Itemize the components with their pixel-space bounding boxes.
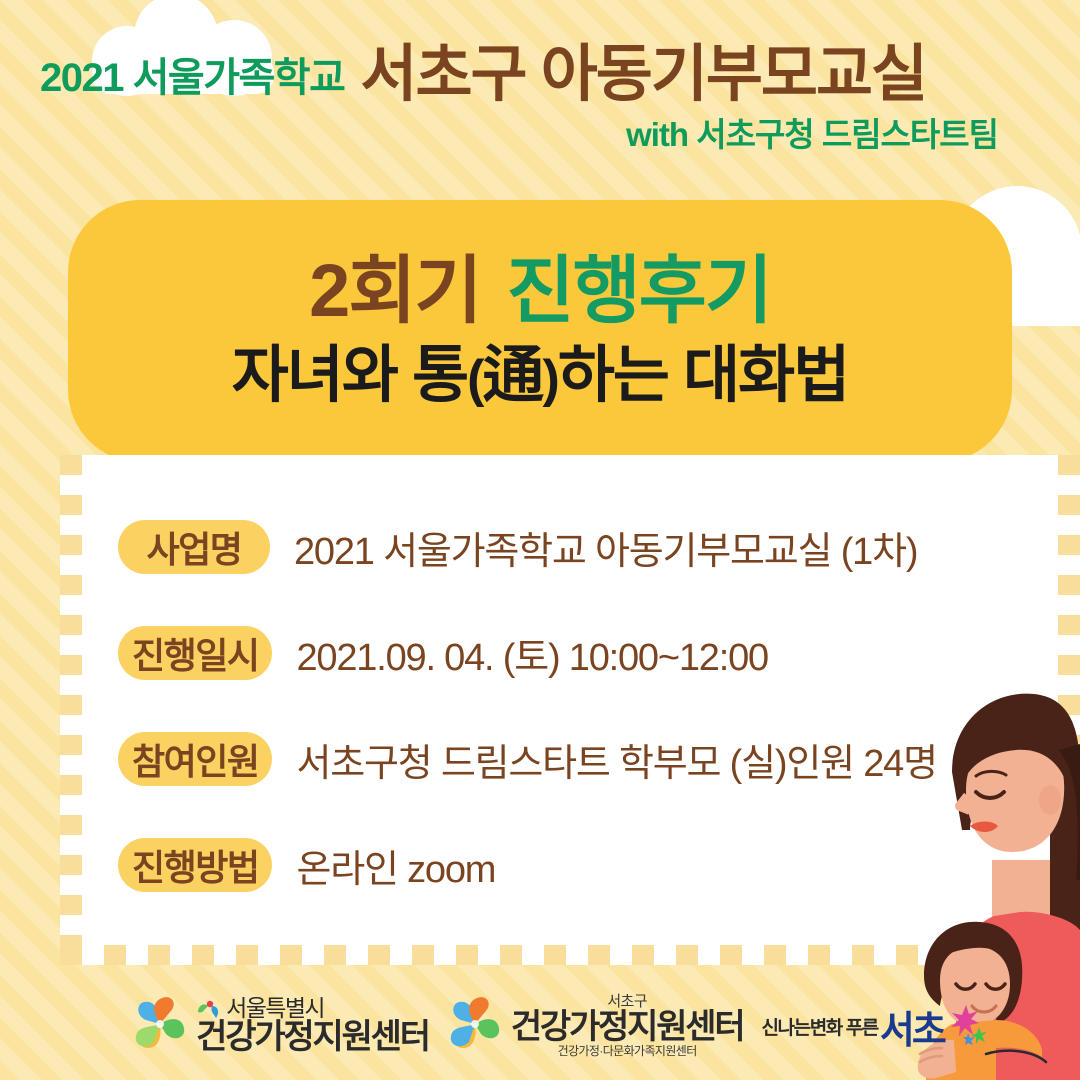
logo-text-block: 서초구 건강가정지원센터 건강가정·다문화가족지원센터 xyxy=(511,994,744,1058)
table-row: 진행방법 온라인 zoom xyxy=(118,833,998,897)
page-title: 서초구 아동기부모교실 xyxy=(360,44,926,106)
header-with-line: with 서초구청 드림스타트팀 xyxy=(40,118,1040,151)
logo1-main-label: 건강가정지원센터 xyxy=(196,1020,429,1056)
seocho-slogan-label: 신나는변화 푸른 xyxy=(761,1013,877,1040)
row-label-chip: 사업명 xyxy=(118,520,270,574)
logo2-sub-label: 건강가정·다문화가족지원센터 xyxy=(511,1045,744,1058)
star-burst-icon xyxy=(946,1003,988,1050)
logo-seocho-healthy-family: 서초구 건강가정지원센터 건강가정·다문화가족지원센터 xyxy=(447,994,744,1058)
row-label-chip: 진행방법 xyxy=(118,838,272,892)
seoul-city-mark: 서울특별시 xyxy=(196,996,429,1020)
session-type: 진행후기 xyxy=(507,252,771,330)
card-notch-bottom xyxy=(60,945,1080,965)
row-label-chip: 진행일시 xyxy=(118,626,272,680)
row-label-chip: 참여인원 xyxy=(118,732,272,786)
title-session-row: 2회기 진행후기 xyxy=(309,252,771,330)
poster-header: 2021 서울가족학교 서초구 아동기부모교실 with 서초구청 드림스타트팀 xyxy=(0,44,1080,151)
row-value: 서초구청 드림스타트 학부모 (실)인원 24명 xyxy=(296,732,936,787)
row-value: 2021 서울가족학교 아동기부모교실 (1차) xyxy=(294,520,917,575)
table-row: 사업명 2021 서울가족학교 아동기부모교실 (1차) xyxy=(118,515,998,579)
logo2-main-label: 건강가정지원센터 xyxy=(511,1010,744,1046)
title-capsule: 2회기 진행후기 자녀와 통(通)하는 대화법 xyxy=(68,200,1012,462)
seocho-brand-label: 서초 xyxy=(880,999,944,1054)
logo-seoul-healthy-family: 서울특별시 건강가정지원센터 xyxy=(132,996,429,1057)
footer-logos: 서울특별시 건강가정지원센터 서초구 건강가정지원센터 건강가 xyxy=(0,972,1080,1080)
logo-seocho-brand: 신나는변화 푸른 서초 xyxy=(761,999,987,1054)
table-row: 진행일시 2021.09. 04. (토) 10:00~12:00 xyxy=(118,621,998,685)
row-value: 2021.09. 04. (토) 10:00~12:00 xyxy=(296,626,767,681)
card-notch-right xyxy=(1058,455,1080,965)
card-notch-left xyxy=(60,455,82,965)
title-subtitle: 자녀와 통(通)하는 대화법 xyxy=(232,342,849,410)
subtitle-part2: 하는 대화법 xyxy=(558,341,848,410)
subtitle-paren-open: ( xyxy=(467,350,482,408)
poster-canvas: 2021 서울가족학교 서초구 아동기부모교실 with 서초구청 드림스타트팀… xyxy=(0,0,1080,1080)
session-number: 2회기 xyxy=(309,252,480,330)
logo-text-block: 서울특별시 건강가정지원센터 xyxy=(196,996,429,1056)
header-program-year: 2021 서울가족학교 xyxy=(40,58,344,98)
table-row: 참여인원 서초구청 드림스타트 학부모 (실)인원 24명 xyxy=(118,727,998,791)
row-value: 온라인 zoom xyxy=(296,838,495,893)
seoul-city-label: 서울특별시 xyxy=(226,996,324,1020)
subtitle-paren-close: ) xyxy=(542,350,557,408)
pinwheel-icon xyxy=(132,996,188,1057)
subtitle-part1: 자녀와 통 xyxy=(232,341,467,410)
info-row-list: 사업명 2021 서울가족학교 아동기부모교실 (1차) 진행일시 2021.0… xyxy=(118,515,998,939)
header-title-line: 2021 서울가족학교 서초구 아동기부모교실 xyxy=(40,44,1040,106)
pinwheel-icon xyxy=(447,996,503,1057)
subtitle-hanja: 通 xyxy=(482,341,542,410)
